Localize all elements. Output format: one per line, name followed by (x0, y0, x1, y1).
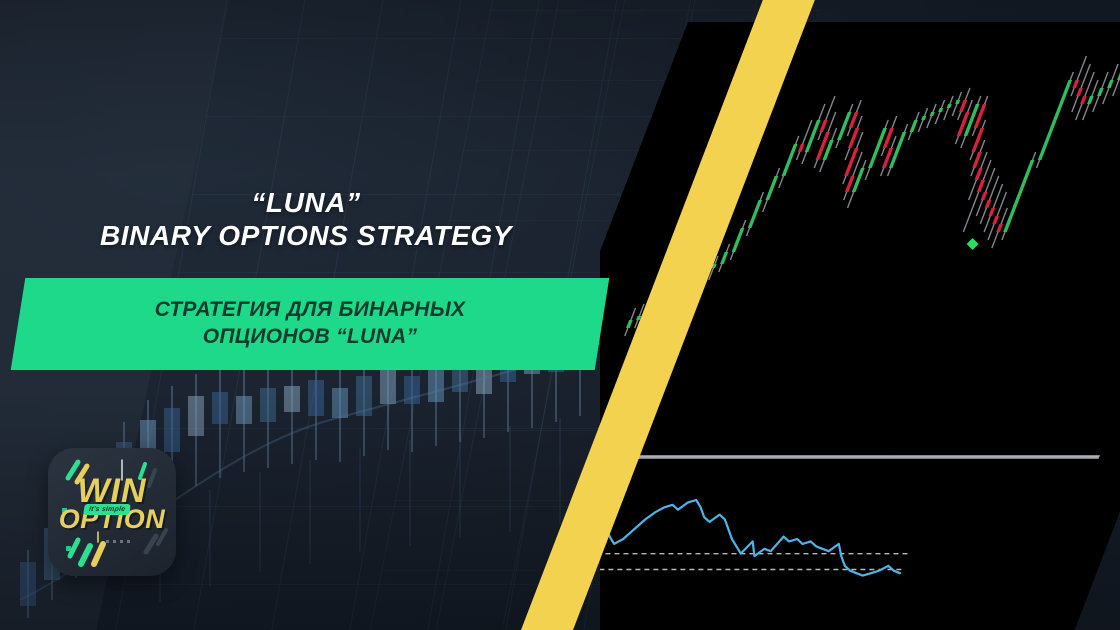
oscillator-line (600, 500, 900, 585)
buy-signal-diamond (967, 238, 979, 250)
subtitle-banner-text: СТРАТЕГИЯ ДЛЯ БИНАРНЫХ ОПЦИОНОВ “LUNA” (18, 278, 602, 370)
banner-line-1: СТРАТЕГИЯ ДЛЯ БИНАРНЫХ (155, 297, 466, 324)
candle (927, 104, 936, 128)
logo-text-win: WIN (48, 474, 176, 508)
title-line-1: “LUNA” (0, 186, 612, 219)
candle (606, 324, 615, 348)
candle (918, 108, 927, 132)
oscillator-group (600, 500, 907, 585)
candle (1002, 152, 1036, 240)
candle (963, 160, 991, 232)
candle (1036, 72, 1073, 168)
candle (615, 316, 626, 344)
logo-tagline-badge: it's simple (83, 504, 131, 515)
page-title: “LUNA” BINARY OPTIONS STRATEGY (0, 186, 612, 252)
candle (779, 136, 799, 188)
candle (908, 112, 919, 140)
candle (1093, 72, 1108, 112)
candle (865, 120, 888, 180)
candle (763, 168, 780, 212)
candle (802, 104, 825, 164)
title-line-2: BINARY OPTIONS STRATEGY (0, 219, 612, 252)
poster-canvas: “LUNA” BINARY OPTIONS STRATEGY СТРАТЕГИЯ… (0, 0, 1120, 630)
candle (719, 244, 730, 272)
panel-separator (630, 455, 1100, 459)
candle (847, 100, 861, 136)
candle (625, 308, 636, 336)
banner-line-2: ОПЦИОНОВ “LUNA” (203, 324, 418, 351)
candle (746, 192, 763, 236)
win-option-logo[interactable]: WIN OPTION it's simple (48, 448, 176, 576)
candle (730, 220, 745, 260)
candle (935, 100, 944, 124)
candle (971, 140, 985, 176)
candle (1103, 64, 1118, 104)
candle (944, 96, 953, 120)
